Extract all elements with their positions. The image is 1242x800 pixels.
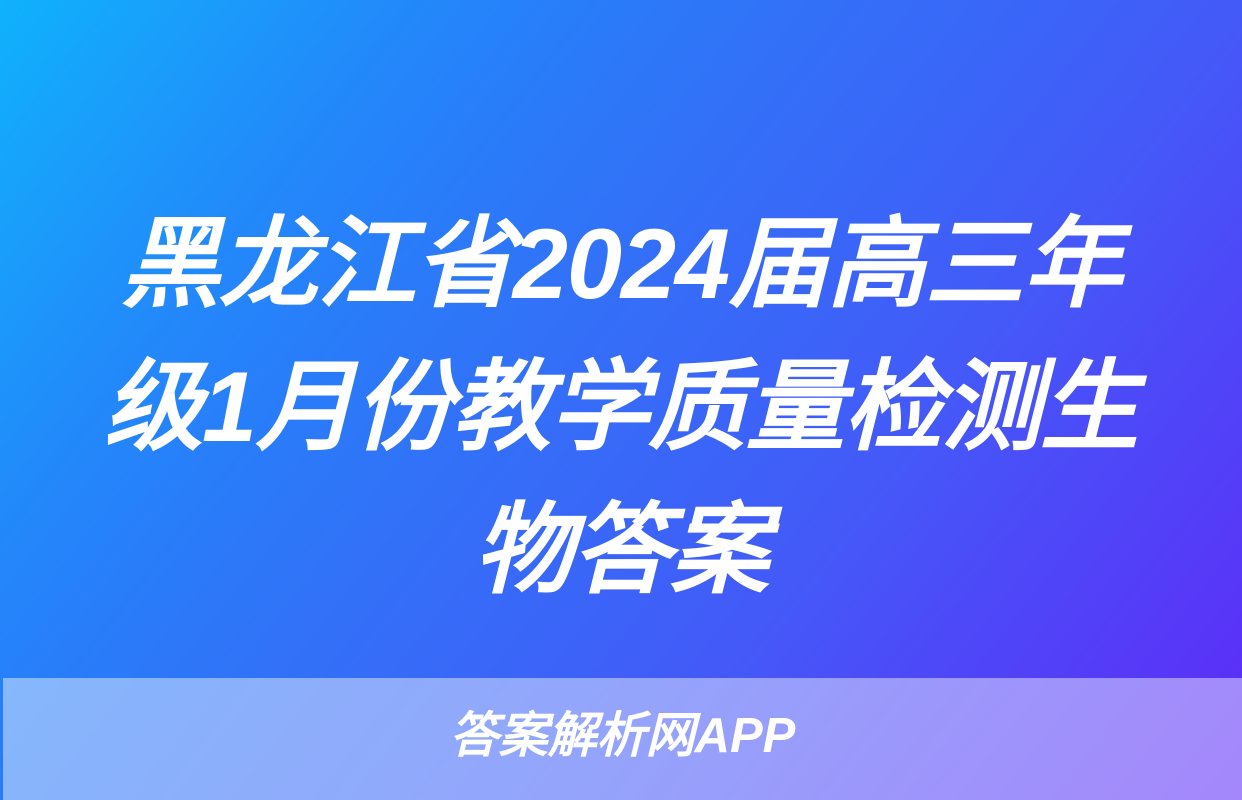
- watermark-label: 答案解析网APP: [450, 712, 796, 761]
- title-block: 黑龙江省2024届高三年级1月份教学质量检测生物答案: [96, 186, 1146, 626]
- poster-canvas: 黑龙江省2024届高三年级1月份教学质量检测生物答案 答案解析网APP: [0, 0, 1242, 800]
- page-title: 黑龙江省2024届高三年级1月份教学质量检测生物答案: [96, 192, 1146, 621]
- footer-watermark-band: 答案解析网APP: [3, 678, 1242, 800]
